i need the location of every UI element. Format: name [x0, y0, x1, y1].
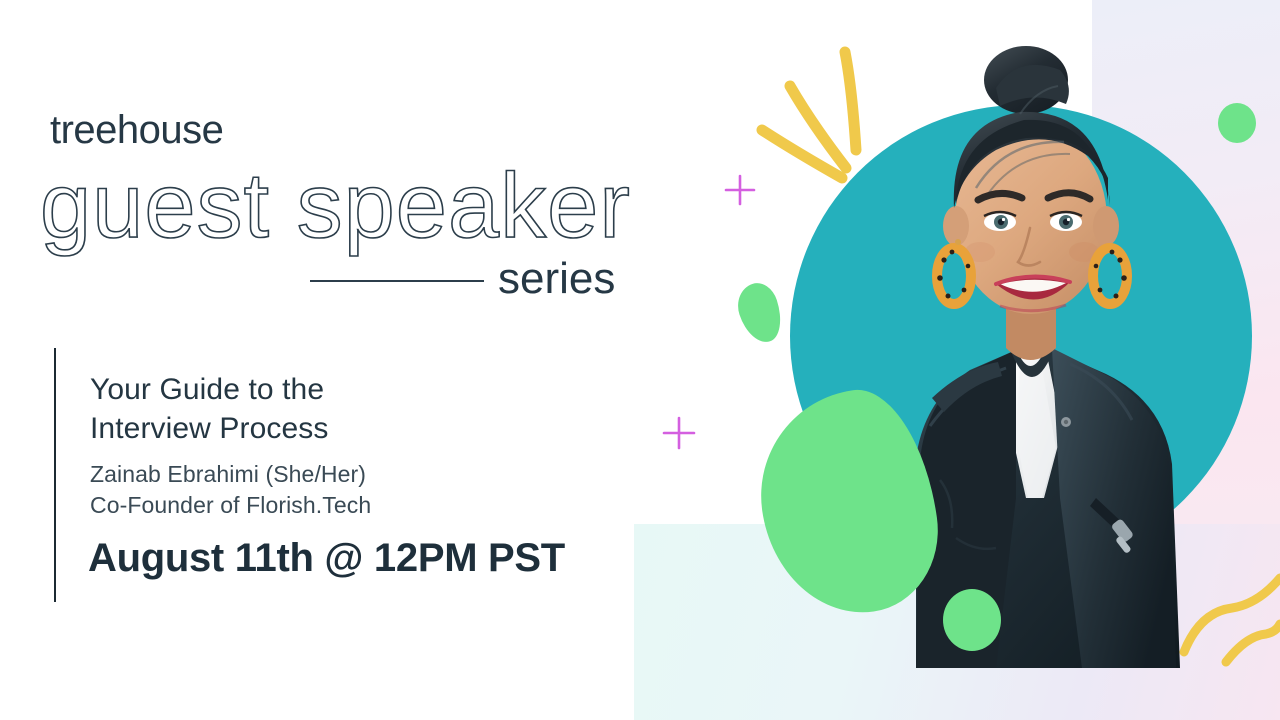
event-datetime: August 11th @ 12PM PST [88, 536, 565, 581]
series-divider-rule [310, 280, 484, 282]
vertical-accent-rule [54, 348, 56, 602]
series-label: series [498, 254, 615, 304]
talk-title-line-1: Your Guide to the [90, 370, 328, 409]
talk-title-line-2: Interview Process [90, 409, 328, 448]
series-headline: guest speaker [40, 158, 631, 255]
talk-title: Your Guide to the Interview Process [90, 370, 328, 448]
brand-name: treehouse [50, 108, 223, 153]
speaker-role: Co-Founder of Florish.Tech [90, 492, 371, 519]
green-circle-bottom [943, 589, 1001, 651]
promo-graphic: treehouse guest speaker series Your Guid… [0, 0, 1280, 720]
speaker-name: Zainab Ebrahimi (She/Her) [90, 461, 366, 488]
magenta-plus-icon-top [726, 176, 754, 204]
green-blob-small [732, 278, 789, 347]
magenta-plus-icon-lower [664, 418, 694, 448]
